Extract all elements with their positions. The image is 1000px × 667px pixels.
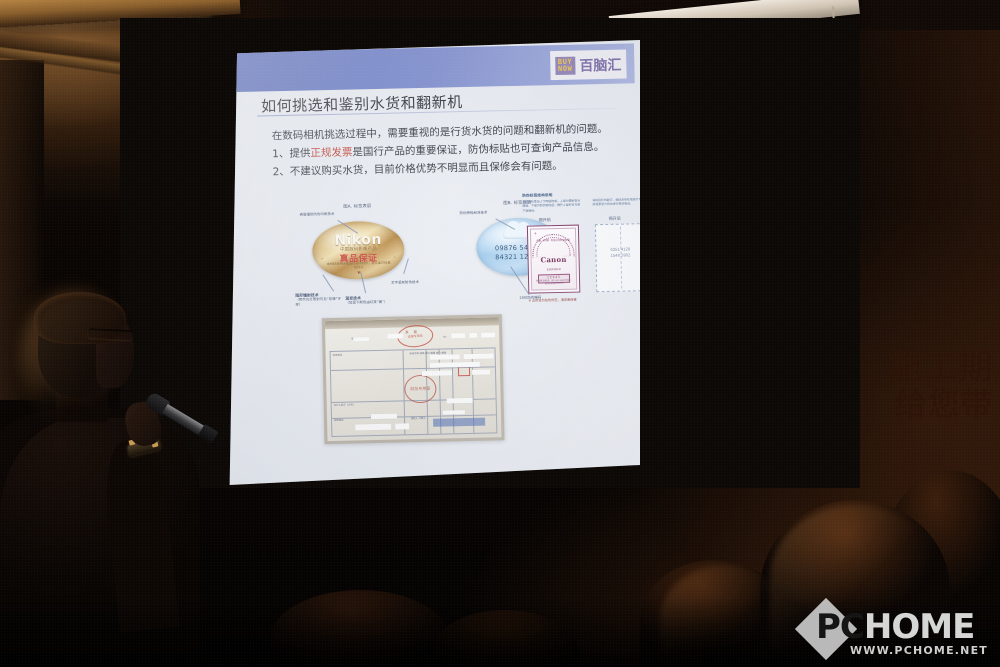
figure-nikon-sticker: 图A. 标签表层 Nikon 中国数码影像产品 真品保证 本标贴采用多重防伪技术… [297,202,419,281]
invoice-redaction-3 [469,333,477,338]
canon-label-inner: ✛ 佳能（中国）有限公司防伪标签 Canon 正品防伪标识 12345 防伪查询… [530,228,577,291]
pchome-watermark: PCHOME WWW.PCHOME.NET [802,597,992,659]
invoice-redaction-9 [430,370,452,375]
canon-foot-note: ※ 此标签为防伪标签，请妥善保管 [528,297,576,303]
buynow-logo-mark: BUY NOW [555,56,576,74]
figure-canon-label: 防伪标签结构说明 本防伪标签由上下两层构成，上层为镭射激光膜层，下层为防伪密码层… [522,191,650,310]
invoice-redaction-7 [464,353,494,359]
canon-after-codes: 6251 4128 1548 3902 [596,246,644,260]
invoice-grid-row-1 [331,367,495,372]
wall-banner-line1: 施工期 [889,348,994,385]
wall-banner-line2: 给您带 [874,389,994,422]
watermark-brand: PCHOME [816,607,974,647]
invoice-redaction-15 [395,423,409,429]
watermark-brand-home: HOME [864,607,974,647]
nikon-right-dot-icon: ✦ [393,255,396,260]
watermark-url: WWW.PCHOME.NET [850,644,988,657]
invoice-blue-band [433,418,485,427]
invoice-red-highlight-box [458,366,470,376]
logo-brand-cn: 百脑汇 [579,54,621,75]
nikon-bottom-badge-icon: ▼ [313,269,405,277]
nikon-anno-mid: 温变技术 （加温下颜色由红变“黄”） [345,295,389,306]
canon-label-before: ✛ 佳能（中国）有限公司防伪标签 Canon 正品防伪标识 12345 防伪查询… [527,225,580,294]
invoice-redaction-16 [443,410,465,414]
projection-screen: BUY NOW 百脑汇 如何挑选和鉴别水货和翻新机 在数码相机挑选过程中，需要重… [228,40,640,485]
invoice-redaction-11 [422,371,432,376]
figure-invoice-photo: 发 票 年 月 日 No 购货单位 [322,314,505,444]
watermark-brand-pc: PC [816,607,864,647]
invoice-redaction-12 [447,398,473,404]
canon-card-bottom-text: 防伪查询电话：800-820-8820 网址：www.canon.com.cn [535,280,573,287]
invoice-redaction-6 [430,354,460,360]
canon-panel-sub-right: 请将刮开的数字、编码及所在地拨打电话或登录官方网站进行真伪查询。 [592,197,646,207]
slide-header-band: BUY NOW 百脑汇 [236,43,635,92]
canon-card-mid-text: 正品防伪标识 [536,267,572,272]
invoice-redaction-5 [353,337,369,341]
invoice-row-label-2: 合计人民币（大写） [334,404,356,408]
nikon-anno-left-text: （用荧光灯照射可见“尼康”字样） [295,297,341,307]
item1-prefix: 1、提供 [272,147,310,160]
invoice-row-label-0: 购货单位 [333,354,343,358]
canon-brand-text: Canon [532,255,576,265]
canon-label-after: 6251 4128 1548 3902 [595,223,646,292]
buynow-logo: BUY NOW 百脑汇 [550,49,627,80]
invoice-redaction-10 [472,370,490,375]
nikon-figure-caption: 图A. 标签表层 [297,202,417,211]
nikon-anno-left: 隐形镭射技术 （用荧光灯照射可见“尼康”字样） [295,292,343,308]
invoice-redaction-4 [481,332,495,337]
canon-after-code-2: 1548 3902 [596,252,644,259]
item1-suffix: 是国行产品的重要保证，防伪标贴也可查询产品信息。 [352,141,604,158]
invoice-redaction-2 [451,333,465,338]
nikon-hologram-oval: Nikon 中国数码影像产品 真品保证 本标贴采用多重防伪技术制作，请认准识别真… [312,220,405,280]
presentation-slide: BUY NOW 百脑汇 如何挑选和鉴别水货和翻新机 在数码相机挑选过程中，需要重… [236,43,643,472]
invoice-paper: 发 票 年 月 日 No 购货单位 [325,317,502,441]
wall-banner-text: 施工期 给您带 [874,350,994,422]
item1-highlight: 正规发票 [310,147,352,160]
canon-col-after-label: 揭开后 [609,216,621,222]
invoice-row-label-3: 销货单位 [334,419,344,423]
nikon-anno-top: 表层镭射防伪印刷技术 [300,211,362,217]
blue-anno-top: 防伪密码刮涂技术 [460,210,504,216]
slide-figures: 图A. 标签表层 Nikon 中国数码影像产品 真品保证 本标贴采用多重防伪技术… [257,194,629,314]
invoice-no-label: No [443,335,446,339]
canon-panel-sub-left: 本防伪标签由上下两层构成，上层为镭射激光膜层，下层为防伪密码层，揭开上层即可见到… [522,198,582,212]
slide-body-text: 在数码相机挑选过程中，需要重视的是行货水货的问题和翻新机的问题。 1、提供正规发… [272,120,623,182]
photo-scene: 施工期 给您带 ✛ ThreeStars BUY NOW 百脑汇 如何挑选 [0,0,1000,667]
invoice-redaction-13 [371,414,397,420]
screen-canvas: BUY NOW 百脑汇 如何挑选和鉴别水货和翻新机 在数码相机挑选过程中，需要重… [228,40,640,485]
invoice-redaction-1 [387,333,403,338]
logo-now-text: NOW [558,65,573,72]
nikon-left-dot-icon: ✦ [320,256,323,261]
invoice-redaction-14 [355,424,391,431]
canon-corner-mark-icon: ✛ [534,231,537,235]
nikon-anno-mid-text: （加温下颜色由红变“黄”） [345,300,387,305]
invoice-row-label-4: 收款人 开票人 [411,417,426,421]
nikon-anno-right: 文字竖刻防伪技术 [391,280,431,286]
canon-col-before-label: 揭开前 [539,217,551,223]
